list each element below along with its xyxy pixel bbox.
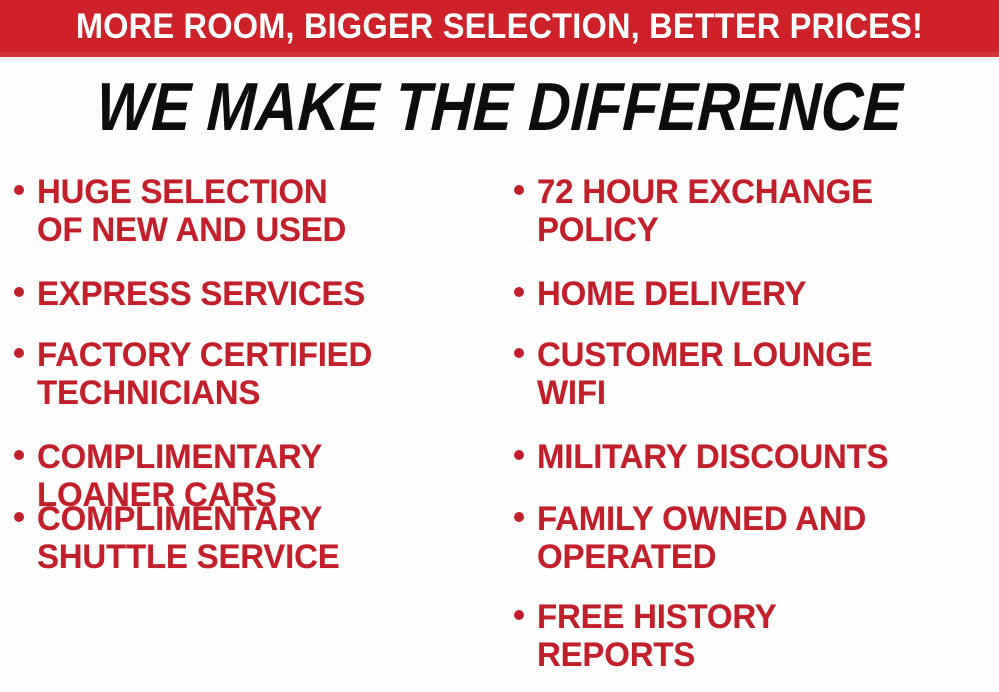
benefit-item: FACTORY CERTIFIED TECHNICIANS <box>14 336 500 412</box>
benefit-item: CUSTOMER LOUNGE WIFI <box>514 336 999 412</box>
benefit-item-label: CUSTOMER LOUNGE WIFI <box>537 336 872 412</box>
benefit-item-label: EXPRESS SERVICES <box>37 275 365 313</box>
benefits-columns: HUGE SELECTION OF NEW AND USEDEXPRESS SE… <box>0 160 999 692</box>
benefit-item-label: FACTORY CERTIFIED TECHNICIANS <box>37 336 372 412</box>
headline-container: WE MAKE THE DIFFERENCE <box>0 66 999 148</box>
top-banner: MORE ROOM, BIGGER SELECTION, BETTER PRIC… <box>0 0 999 52</box>
benefit-item-label: 72 HOUR EXCHANGE POLICY <box>537 173 873 249</box>
benefit-item: COMPLIMENTARY SHUTTLE SERVICE <box>14 500 500 576</box>
benefit-item-label: HOME DELIVERY <box>537 275 806 313</box>
bullet-dot-icon <box>514 512 524 522</box>
benefit-item: HOME DELIVERY <box>514 275 999 313</box>
bullet-dot-icon <box>514 450 524 460</box>
dealership-promo-poster: MORE ROOM, BIGGER SELECTION, BETTER PRIC… <box>0 0 999 692</box>
bullet-dot-icon <box>14 512 24 522</box>
bullet-dot-icon <box>14 450 24 460</box>
benefit-item-label: MILITARY DISCOUNTS <box>537 438 888 476</box>
benefit-item: HUGE SELECTION OF NEW AND USED <box>14 173 500 249</box>
bullet-dot-icon <box>514 287 524 297</box>
banner-bottom-rule <box>0 52 999 57</box>
benefit-item-label: COMPLIMENTARY SHUTTLE SERVICE <box>37 500 340 576</box>
bullet-dot-icon <box>514 185 524 195</box>
bullet-dot-icon <box>514 348 524 358</box>
benefit-item: MILITARY DISCOUNTS <box>514 438 999 476</box>
benefit-item: FAMILY OWNED AND OPERATED <box>514 500 999 576</box>
benefit-item-label: FREE HISTORY REPORTS <box>537 598 777 674</box>
banner-headline-text: MORE ROOM, BIGGER SELECTION, BETTER PRIC… <box>76 9 923 44</box>
bullet-dot-icon <box>14 287 24 297</box>
bullet-dot-icon <box>14 348 24 358</box>
benefits-column-right: 72 HOUR EXCHANGE POLICYHOME DELIVERYCUST… <box>514 160 999 692</box>
benefit-item-label: FAMILY OWNED AND OPERATED <box>537 500 866 576</box>
benefit-item: FREE HISTORY REPORTS <box>514 598 999 674</box>
benefit-item: EXPRESS SERVICES <box>14 275 500 313</box>
benefit-item-label: HUGE SELECTION OF NEW AND USED <box>37 173 346 249</box>
benefit-item: 72 HOUR EXCHANGE POLICY <box>514 173 999 249</box>
benefits-column-left: HUGE SELECTION OF NEW AND USEDEXPRESS SE… <box>14 160 500 692</box>
main-headline: WE MAKE THE DIFFERENCE <box>95 73 904 141</box>
bullet-dot-icon <box>514 610 524 620</box>
bullet-dot-icon <box>14 185 24 195</box>
